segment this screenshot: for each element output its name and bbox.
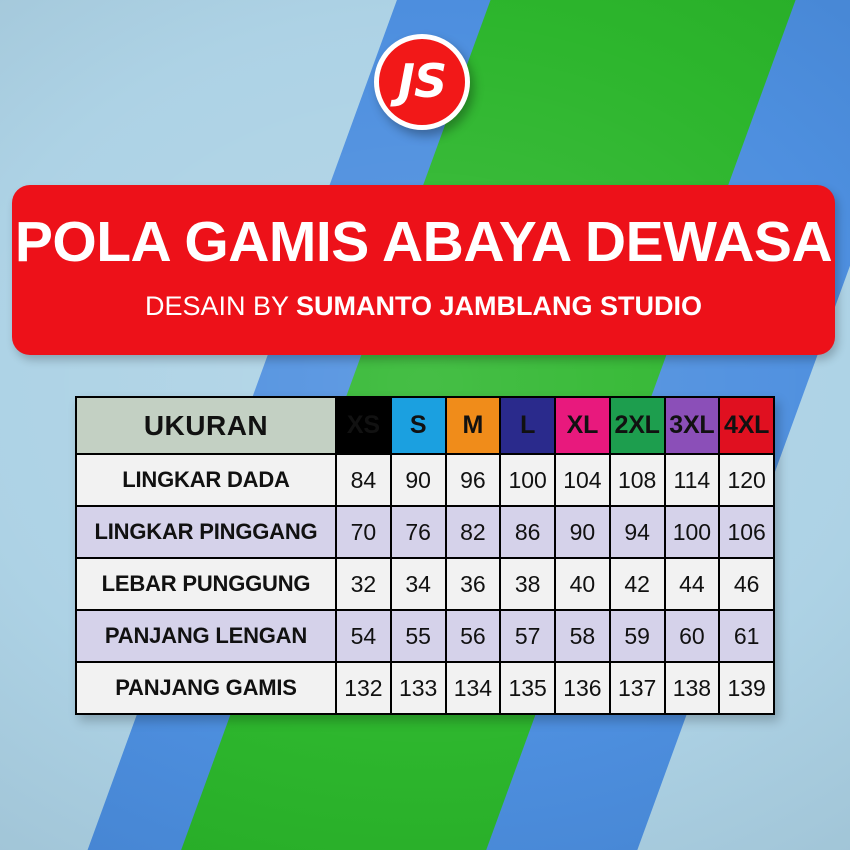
logo-initials: JS xyxy=(398,58,446,104)
measurement-label: LINGKAR PINGGANG xyxy=(76,506,336,558)
measurement-value: 90 xyxy=(555,506,610,558)
size-header-xs: XS xyxy=(336,397,391,454)
measurement-value: 76 xyxy=(391,506,446,558)
measurement-value: 139 xyxy=(719,662,774,714)
measurement-value: 132 xyxy=(336,662,391,714)
measurement-value: 42 xyxy=(610,558,665,610)
measurement-value: 108 xyxy=(610,454,665,506)
brand-logo: JS xyxy=(374,34,470,130)
designer-credit-prefix: DESAIN BY xyxy=(145,291,296,321)
measurement-value: 137 xyxy=(610,662,665,714)
measurement-label: LINGKAR DADA xyxy=(76,454,336,506)
measurement-value: 120 xyxy=(719,454,774,506)
table-row: LINGKAR PINGGANG707682869094100106 xyxy=(76,506,774,558)
size-header-4xl: 4XL xyxy=(719,397,774,454)
measurement-value: 96 xyxy=(446,454,501,506)
size-chart: UKURANXSSMLXL2XL3XL4XLLINGKAR DADA849096… xyxy=(75,396,775,715)
measurement-value: 38 xyxy=(500,558,555,610)
size-header-3xl: 3XL xyxy=(665,397,720,454)
poster-canvas: JS POLA GAMIS ABAYA DEWASA DESAIN BY SUM… xyxy=(0,0,850,850)
measurement-value: 54 xyxy=(336,610,391,662)
table-row: LINGKAR DADA849096100104108114120 xyxy=(76,454,774,506)
measurement-value: 114 xyxy=(665,454,720,506)
measurement-value: 59 xyxy=(610,610,665,662)
size-header-l: L xyxy=(500,397,555,454)
table-row: PANJANG LENGAN5455565758596061 xyxy=(76,610,774,662)
measurement-value: 57 xyxy=(500,610,555,662)
measurement-label: PANJANG GAMIS xyxy=(76,662,336,714)
measurement-value: 36 xyxy=(446,558,501,610)
size-header-2xl: 2XL xyxy=(610,397,665,454)
size-table: UKURANXSSMLXL2XL3XL4XLLINGKAR DADA849096… xyxy=(75,396,775,715)
page-title: POLA GAMIS ABAYA DEWASA xyxy=(15,214,832,271)
measurement-value: 58 xyxy=(555,610,610,662)
measurement-value: 86 xyxy=(500,506,555,558)
measurement-label: PANJANG LENGAN xyxy=(76,610,336,662)
size-table-header-row: UKURANXSSMLXL2XL3XL4XL xyxy=(76,397,774,454)
size-header-xl: XL xyxy=(555,397,610,454)
measurement-value: 46 xyxy=(719,558,774,610)
title-banner: POLA GAMIS ABAYA DEWASA DESAIN BY SUMANT… xyxy=(12,185,835,355)
measurement-value: 90 xyxy=(391,454,446,506)
measurement-value: 60 xyxy=(665,610,720,662)
measurement-value: 70 xyxy=(336,506,391,558)
measurement-value: 134 xyxy=(446,662,501,714)
table-row: LEBAR PUNGGUNG3234363840424446 xyxy=(76,558,774,610)
measurement-value: 56 xyxy=(446,610,501,662)
measurement-value: 32 xyxy=(336,558,391,610)
measurement-value: 138 xyxy=(665,662,720,714)
measurement-value: 94 xyxy=(610,506,665,558)
measurement-value: 100 xyxy=(665,506,720,558)
measurement-value: 135 xyxy=(500,662,555,714)
measurement-value: 61 xyxy=(719,610,774,662)
measurement-value: 133 xyxy=(391,662,446,714)
measurement-value: 82 xyxy=(446,506,501,558)
size-table-body: UKURANXSSMLXL2XL3XL4XLLINGKAR DADA849096… xyxy=(76,397,774,714)
measurement-value: 136 xyxy=(555,662,610,714)
header-cell-ukuran: UKURAN xyxy=(76,397,336,454)
measurement-value: 100 xyxy=(500,454,555,506)
measurement-value: 40 xyxy=(555,558,610,610)
measurement-value: 44 xyxy=(665,558,720,610)
measurement-value: 106 xyxy=(719,506,774,558)
measurement-value: 84 xyxy=(336,454,391,506)
measurement-label: LEBAR PUNGGUNG xyxy=(76,558,336,610)
measurement-value: 104 xyxy=(555,454,610,506)
size-header-s: S xyxy=(391,397,446,454)
measurement-value: 34 xyxy=(391,558,446,610)
designer-credit: DESAIN BY SUMANTO JAMBLANG STUDIO xyxy=(145,293,702,320)
size-header-m: M xyxy=(446,397,501,454)
measurement-value: 55 xyxy=(391,610,446,662)
table-row: PANJANG GAMIS132133134135136137138139 xyxy=(76,662,774,714)
designer-credit-name: SUMANTO JAMBLANG STUDIO xyxy=(296,291,702,321)
